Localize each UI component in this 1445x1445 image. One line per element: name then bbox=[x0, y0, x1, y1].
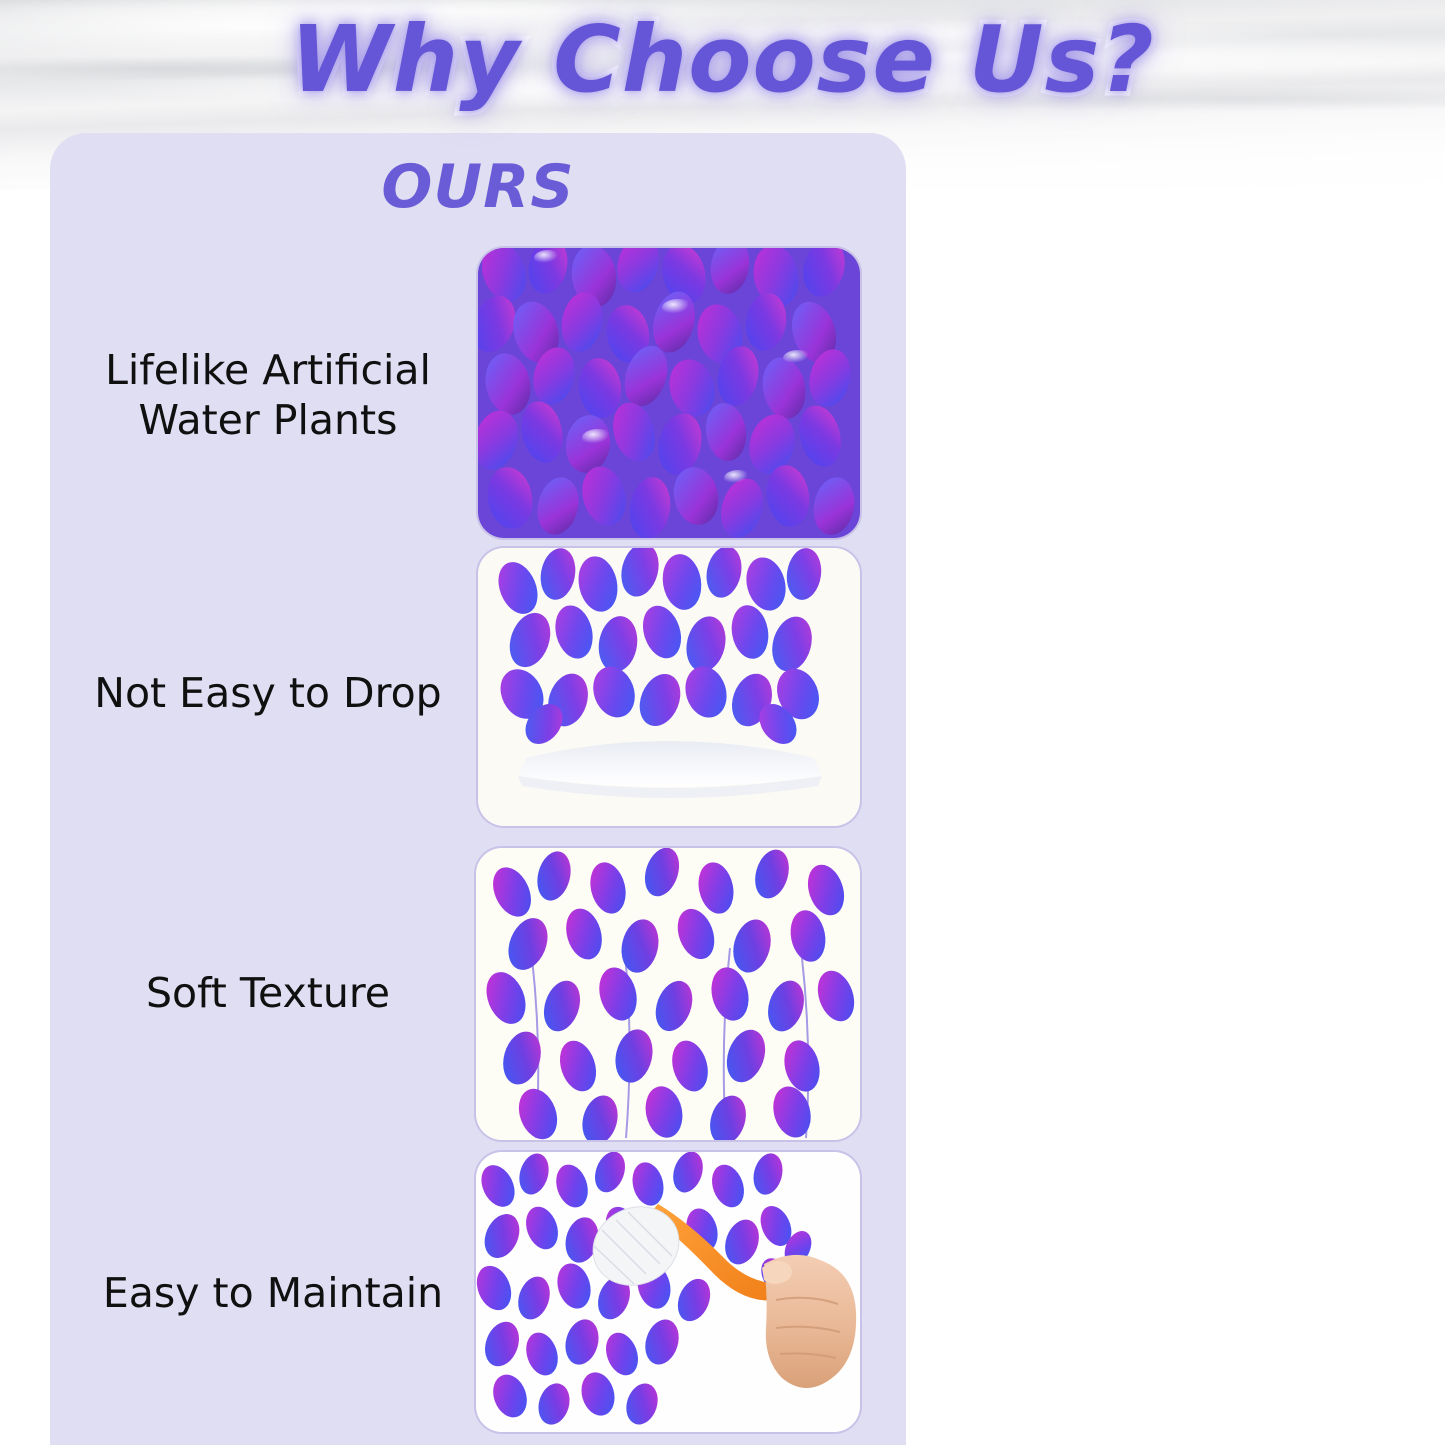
product-photo-1 bbox=[478, 248, 860, 538]
plant-cleaning-artwork bbox=[476, 1152, 860, 1432]
plant-leaves-artwork-1 bbox=[478, 248, 860, 538]
ours-heading: OURS bbox=[50, 152, 906, 222]
feature-row-3: Soft Texture bbox=[78, 968, 458, 1018]
feature-label-2: Not Easy to Drop bbox=[78, 668, 458, 718]
cross-icon-3 bbox=[1148, 1072, 1234, 1158]
product-photo-4 bbox=[476, 1152, 860, 1432]
feature-label-1: Lifelike Artificial Water Plants bbox=[78, 345, 458, 445]
page-title: Why Choose Us? bbox=[290, 6, 1154, 113]
cross-icon-4 bbox=[1266, 1232, 1352, 1318]
cross-icon-1 bbox=[1226, 752, 1312, 838]
cross-icon-2 bbox=[1300, 912, 1386, 998]
feature-row-1: Lifelike Artificial Water Plants bbox=[78, 345, 458, 445]
others-heading: OTHERS bbox=[906, 520, 1376, 593]
other-row-1: Lack of Realism bbox=[944, 715, 1226, 756]
other-label-1: Lack of Realism bbox=[944, 715, 1226, 756]
other-label-2: Fragile and Easy to Drop bbox=[944, 873, 1385, 914]
other-row-3: Sharp Edges bbox=[944, 1033, 1170, 1074]
infographic-root: Why Choose Us? OURS Lifelike Artificial … bbox=[0, 0, 1445, 1445]
other-row-4: Difficult to Maintain bbox=[944, 1192, 1297, 1233]
other-label-4: Difficult to Maintain bbox=[944, 1192, 1297, 1233]
plant-leaves-artwork-3 bbox=[476, 848, 860, 1140]
plant-leaves-artwork-2 bbox=[478, 548, 860, 826]
feature-label-4: Easy to Maintain bbox=[78, 1268, 468, 1318]
other-row-2: Fragile and Easy to Drop bbox=[944, 873, 1385, 914]
feature-row-4: Easy to Maintain bbox=[78, 1268, 468, 1318]
product-photo-3 bbox=[476, 848, 860, 1140]
other-label-3: Sharp Edges bbox=[944, 1033, 1170, 1074]
feature-label-3: Soft Texture bbox=[78, 968, 458, 1018]
page-title-container: Why Choose Us? bbox=[0, 6, 1445, 113]
product-photo-2 bbox=[478, 548, 860, 826]
feature-row-2: Not Easy to Drop bbox=[78, 668, 458, 718]
